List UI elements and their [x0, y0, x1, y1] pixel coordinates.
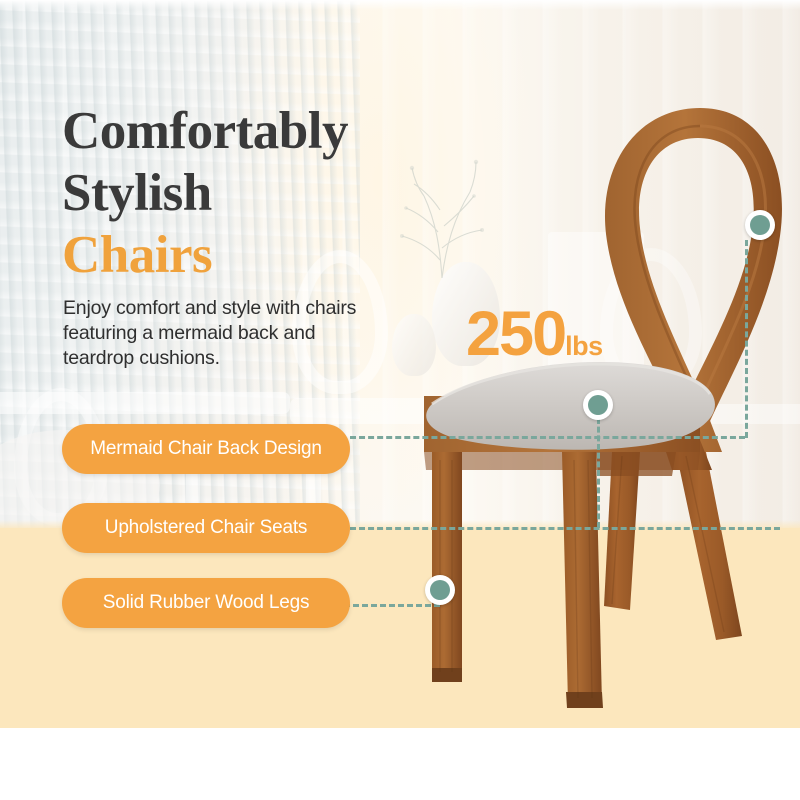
- subcopy-text: Enjoy comfort and style with chairs feat…: [63, 296, 363, 371]
- connector-line-feature-2: [350, 527, 780, 530]
- connector-line-feature-1: [350, 436, 745, 439]
- connector-line-feature-2-vertical: [597, 418, 600, 528]
- connector-line-feature-3: [335, 604, 440, 607]
- feature-pill-label: Solid Rubber Wood Legs: [103, 592, 310, 614]
- chair-leg-marker[interactable]: [425, 575, 455, 605]
- product-banner: Comfortably Stylish Chairs Enjoy comfort…: [0, 0, 800, 800]
- headline-line-2: Stylish: [62, 162, 492, 224]
- feature-pill-label: Mermaid Chair Back Design: [90, 438, 322, 460]
- feature-pill-upholstered-chair-seats[interactable]: Upholstered Chair Seats: [62, 503, 350, 553]
- page-title: Comfortably Stylish Chairs: [62, 100, 492, 286]
- chair-back-marker[interactable]: [745, 210, 775, 240]
- weight-capacity-callout: 250lbs: [466, 303, 603, 366]
- weight-capacity-unit: lbs: [565, 331, 603, 361]
- chair-seat-marker[interactable]: [583, 390, 613, 420]
- feature-pill-label: Upholstered Chair Seats: [105, 517, 307, 539]
- headline-line-1: Comfortably: [62, 100, 492, 162]
- weight-capacity-value: 250: [466, 299, 565, 369]
- connector-line-feature-1-vertical: [745, 240, 748, 438]
- headline-line-3: Chairs: [62, 224, 492, 286]
- feature-pill-solid-rubber-wood-legs[interactable]: Solid Rubber Wood Legs: [62, 578, 350, 628]
- feature-pill-mermaid-chair-back-design[interactable]: Mermaid Chair Back Design: [62, 424, 350, 474]
